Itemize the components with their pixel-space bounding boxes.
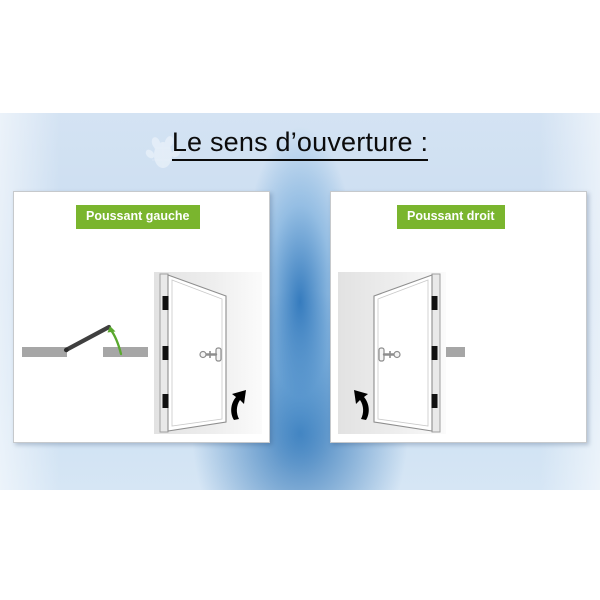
badge-poussant-droit: Poussant droit	[397, 205, 505, 229]
page-title: Le sens d’ouverture :	[0, 127, 600, 158]
badge-poussant-gauche: Poussant gauche	[76, 205, 200, 229]
hinge-middle	[163, 346, 169, 360]
panel-poussant-gauche: Poussant gauche	[13, 191, 270, 443]
door-pivot-point	[64, 348, 68, 352]
page-title-text: Le sens d’ouverture :	[172, 127, 428, 161]
panel-poussant-droit: Poussant droit	[330, 191, 587, 443]
hinge-top	[163, 296, 169, 310]
plan-view-diagram-left	[20, 310, 150, 370]
wall-block-right	[103, 347, 148, 357]
hinge-top	[432, 296, 438, 310]
wall-block-left	[22, 347, 67, 357]
door-leaf-plan	[66, 327, 109, 350]
hinge-middle	[432, 346, 438, 360]
hinge-bottom	[432, 394, 438, 408]
slide-canvas: Le sens d’ouverture : Poussant gauche	[0, 0, 600, 600]
door-perspective-right	[338, 272, 446, 434]
door-perspective-left	[154, 272, 262, 434]
hinge-bottom	[163, 394, 169, 408]
